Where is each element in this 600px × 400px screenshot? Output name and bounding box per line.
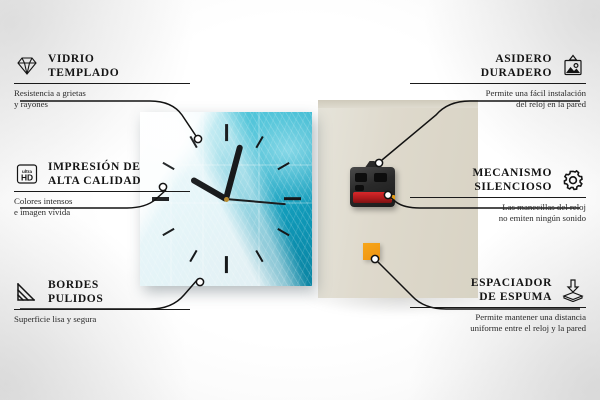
feature-bordes-pulidos: BORDES PULIDOS Superficie lisa y segura: [14, 278, 190, 325]
feature-title-line1: MECANISMO: [472, 166, 552, 180]
foam-spacer-icon: [560, 278, 586, 302]
polished-edges-icon: [14, 280, 40, 304]
feature-divider: [410, 197, 586, 198]
clock-mechanism: [350, 167, 395, 207]
feature-title-line1: VIDRIO: [48, 52, 119, 66]
feature-divider: [410, 307, 586, 308]
feature-desc-line1: Colores intensos: [14, 196, 190, 207]
feature-espaciador-de-espuma: ESPACIADOR DE ESPUMA Permite mantener un…: [410, 276, 586, 335]
feature-title-line1: IMPRESIÓN DE: [48, 160, 141, 174]
feature-title-line2: TEMPLADO: [48, 66, 119, 80]
mechanism-battery: [353, 192, 392, 203]
feature-title-line2: ALTA CALIDAD: [48, 174, 141, 188]
feature-vidrio-templado: VIDRIO TEMPLADO Resistencia a grietas y …: [14, 52, 190, 111]
feature-desc-line1: Las manecillas del reloj: [410, 202, 586, 213]
feature-title-line1: BORDES: [48, 278, 103, 292]
feature-divider: [14, 83, 190, 84]
feature-desc-line2: e imagen vívida: [14, 207, 190, 218]
feature-mecanismo-silencioso: MECANISMO SILENCIOSO Las manecillas del …: [410, 166, 586, 225]
diamond-icon: [14, 54, 40, 78]
feature-desc-line2: no emiten ningún sonido: [410, 213, 586, 224]
feature-title-line1: ESPACIADOR: [471, 276, 552, 290]
feature-title-line2: PULIDOS: [48, 292, 103, 306]
feature-desc-line1: Superficie lisa y segura: [14, 314, 190, 325]
feature-title-line1: ASIDERO: [481, 52, 552, 66]
picture-hanger-icon: [560, 54, 586, 78]
feature-divider: [14, 309, 190, 310]
feature-desc-line2: del reloj en la pared: [410, 99, 586, 110]
feature-desc-line1: Resistencia a grietas: [14, 88, 190, 99]
feature-asidero-duradero: ASIDERO DURADERO Permite una fácil insta…: [410, 52, 586, 111]
feature-desc-line2: uniforme entre el reloj y la pared: [410, 323, 586, 334]
feature-title-line2: SILENCIOSO: [472, 180, 552, 194]
feature-title-line2: DURADERO: [481, 66, 552, 80]
feature-impresion-alta-calidad: ultra HD IMPRESIÓN DE ALTA CALIDAD Color…: [14, 160, 190, 219]
infographic-canvas: VIDRIO TEMPLADO Resistencia a grietas y …: [0, 0, 600, 400]
mechanism-body: [350, 167, 395, 207]
ultra-hd-icon: ultra HD: [14, 162, 40, 186]
feature-divider: [410, 83, 586, 84]
feature-title-line2: DE ESPUMA: [471, 290, 552, 304]
feature-desc-line2: y rayones: [14, 99, 190, 110]
foam-spacer-part: [363, 243, 380, 260]
feature-desc-line1: Permite mantener una distancia: [410, 312, 586, 323]
gear-icon: [560, 168, 586, 192]
feature-divider: [14, 191, 190, 192]
feature-desc-line1: Permite una fácil instalación: [410, 88, 586, 99]
ultra-hd-icon-large-text: HD: [21, 173, 33, 183]
